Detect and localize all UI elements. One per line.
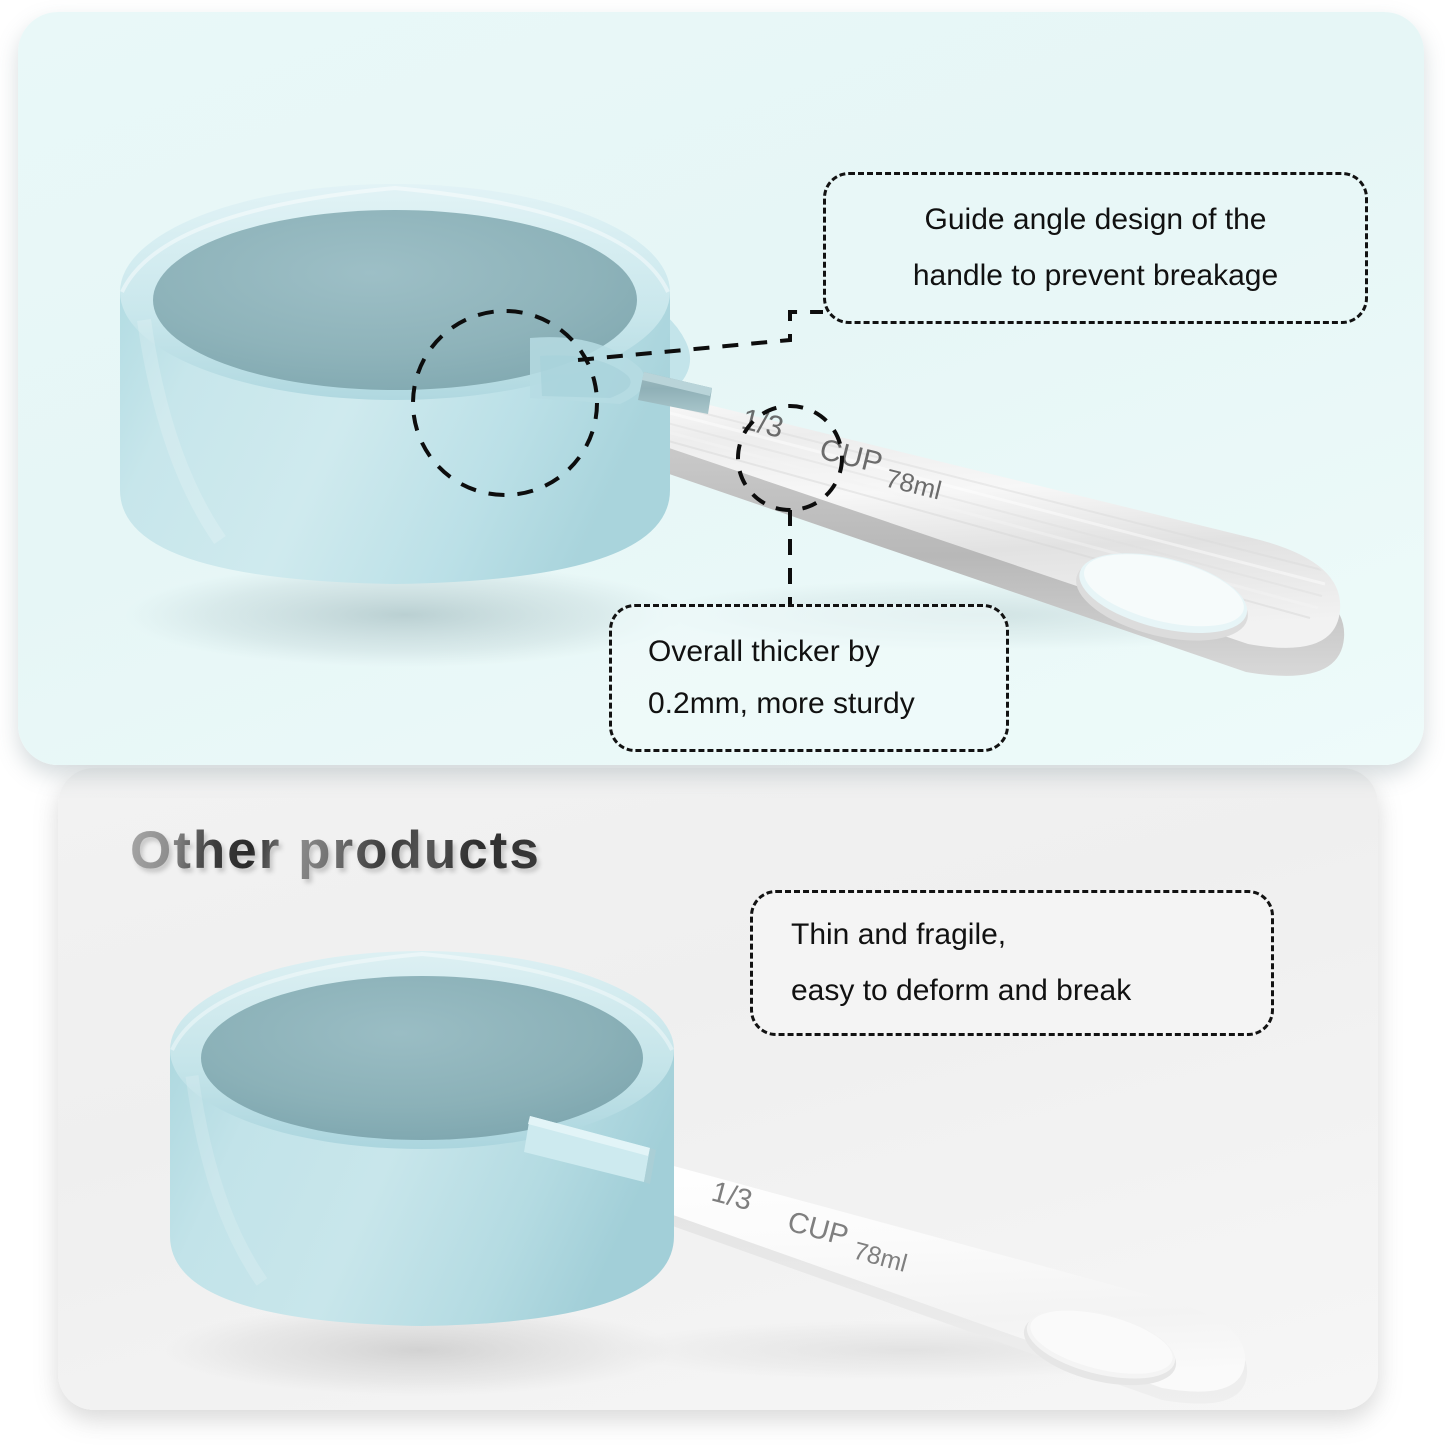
callout-thin-fragile: Thin and fragile, easy to deform and bre… [750,890,1274,1036]
callout-thicker: Overall thicker by 0.2mm, more sturdy [609,604,1009,752]
callout-guide-angle: Guide angle design of the handle to prev… [823,172,1368,324]
callout-thin-fragile-line1: Thin and fragile, [791,920,1006,950]
callout-thicker-line1: Overall thicker by [648,637,880,667]
callout-thin-fragile-line2: easy to deform and break [791,976,1131,1006]
page-title-other-products: Other products [130,820,541,881]
callout-guide-angle-line1: Guide angle design of the [925,205,1267,235]
infographic-canvas: 1/3 CUP 78ml [0,0,1445,1447]
callout-thicker-line2: 0.2mm, more sturdy [648,689,915,719]
cup-new-upgrade [120,184,690,584]
callout-guide-angle-line2: handle to prevent breakage [913,261,1278,291]
